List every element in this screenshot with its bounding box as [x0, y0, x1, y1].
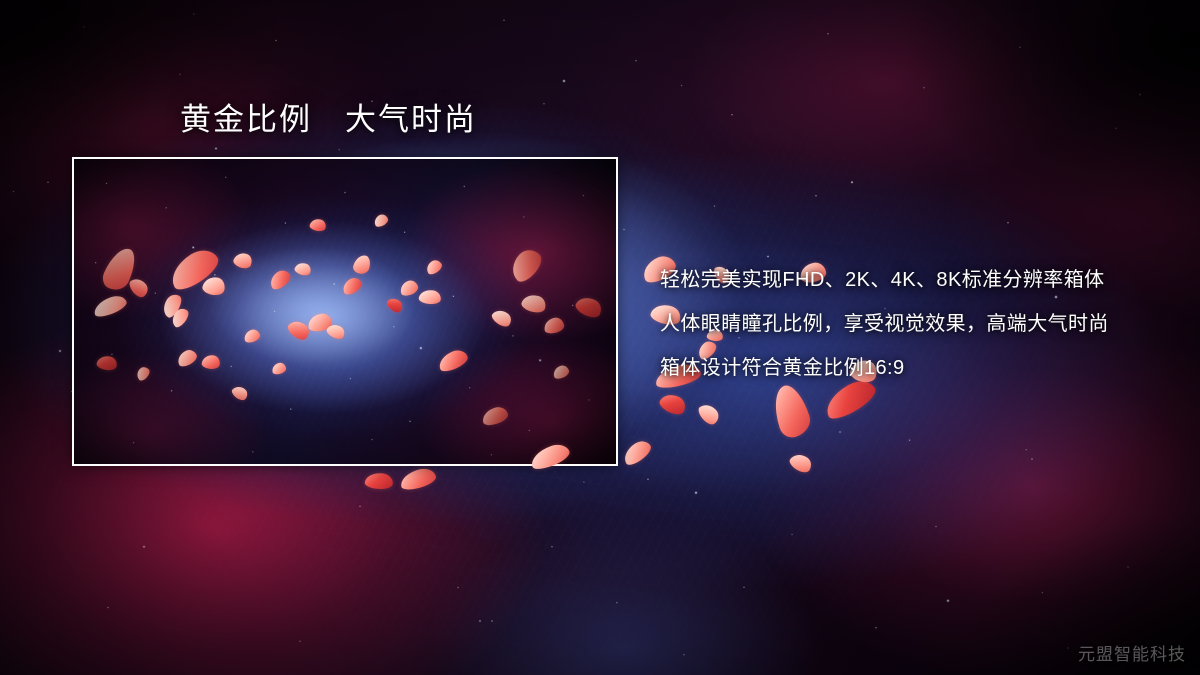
body-text-block: 轻松完美实现FHD、2K、4K、8K标准分辨率箱体 人体眼睛瞳孔比例，享受视觉效…	[660, 258, 1170, 390]
photo-panel-scene	[74, 159, 616, 464]
petal-icon	[398, 466, 437, 492]
presentation-slide: 黄金比例 大气时尚 轻松完美实现FHD、2K、4K、8K标准分辨率箱体 人体眼睛…	[0, 0, 1200, 675]
photo-panel-frame[interactable]	[72, 157, 618, 466]
petal-icon	[620, 437, 654, 468]
slide-title: 黄金比例 大气时尚	[180, 101, 477, 140]
petal-icon	[657, 390, 688, 418]
petal-icon	[787, 450, 814, 476]
body-line: 人体眼睛瞳孔比例，享受视觉效果，高端大气时尚	[660, 302, 1170, 346]
petal-icon	[364, 472, 394, 491]
petal-icon	[768, 381, 815, 440]
petal-icon	[696, 400, 722, 427]
watermark: 元盟智能科技	[1078, 640, 1186, 665]
body-line: 轻松完美实现FHD、2K、4K、8K标准分辨率箱体	[660, 258, 1170, 302]
panel-vignette	[74, 159, 616, 464]
body-line: 箱体设计符合黄金比例16:9	[660, 346, 1170, 390]
